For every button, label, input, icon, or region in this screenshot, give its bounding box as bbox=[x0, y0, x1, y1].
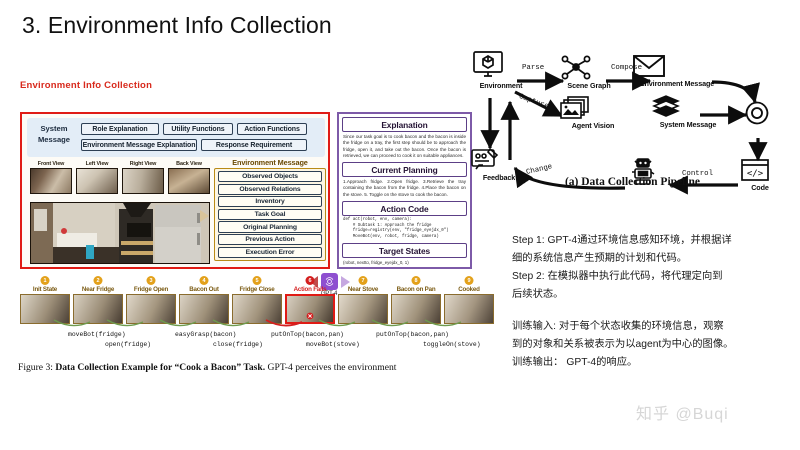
frame-1-thumbnail bbox=[20, 294, 70, 324]
env-item-observed-relations[interactable]: Observed Relations bbox=[218, 184, 322, 195]
environment-message-group: Environment Message Observed Objects Obs… bbox=[214, 158, 326, 265]
node-agent-vision: Agent Vision bbox=[560, 96, 626, 130]
frame-2-thumbnail bbox=[73, 294, 123, 324]
main-scene-render bbox=[30, 202, 210, 264]
environment-message-title: Environment Message bbox=[214, 158, 326, 167]
frame-8[interactable]: 8 Bacon on Pan bbox=[391, 286, 441, 324]
frame-1-number: 1 bbox=[41, 276, 50, 285]
slide-canvas: 3. Environment Info Collection Environme… bbox=[0, 0, 800, 450]
note-step1-line1: Step 1: GPT-4通过环境信息感知环境，并根据详 bbox=[512, 232, 794, 250]
view-back: Back View bbox=[168, 161, 210, 194]
edge-label-compose: Compose bbox=[611, 64, 642, 72]
frame-9-caption: Cooked bbox=[444, 286, 494, 293]
edge-label-parse: Parse bbox=[522, 64, 544, 72]
frame-8-caption: Bacon on Pan bbox=[391, 286, 441, 293]
system-message-band: System Message Role Explanation Utility … bbox=[27, 118, 325, 157]
frame-7-number: 7 bbox=[359, 276, 368, 285]
environment-info-collection-box: System Message Role Explanation Utility … bbox=[20, 112, 330, 269]
action-code-header: Action Code bbox=[342, 201, 467, 216]
gpt-response-panel: Explanation Since our task goal is to co… bbox=[337, 112, 472, 269]
current-planning-text: 1.Approach fridge. 2.Open fridge. 3.Retr… bbox=[342, 179, 467, 198]
env-item-observed-objects[interactable]: Observed Objects bbox=[218, 171, 322, 182]
environment-info-collection-label: Environment Info Collection bbox=[20, 80, 152, 91]
frame-1-caption: Init State bbox=[20, 286, 70, 293]
caption-rest: GPT-4 perceives the environment bbox=[265, 362, 396, 373]
gpt-logo-icon bbox=[742, 98, 776, 128]
system-message-title: System Message bbox=[30, 124, 78, 145]
environment-message-box: Observed Objects Observed Relations Inve… bbox=[214, 168, 326, 261]
note-step1-line2: 细的系统信息产生预期的计划和代码。 bbox=[512, 250, 794, 268]
note-spacer bbox=[512, 304, 794, 318]
frame-2[interactable]: 2 Near Fridge bbox=[73, 286, 123, 324]
frame-8-thumbnail bbox=[391, 294, 441, 324]
feedback-icon bbox=[470, 148, 528, 172]
chip-response-requirement[interactable]: Response Requirement bbox=[201, 139, 307, 151]
frame-6-number: 6 bbox=[306, 276, 315, 285]
frame-4-number: 4 bbox=[200, 276, 209, 285]
node-system-message-label: System Message bbox=[650, 120, 726, 129]
books-stack-icon bbox=[650, 95, 726, 119]
envelope-icon bbox=[632, 54, 722, 78]
env-item-execution-error[interactable]: Execution Error bbox=[218, 247, 322, 258]
view-front-thumbnail bbox=[30, 168, 72, 194]
figure-data-collection-example: Environment Info Collection System Messa… bbox=[14, 80, 500, 380]
view-front: Front View bbox=[30, 161, 72, 194]
action-label-easygrasp-bacon: easyGrasp(bacon) bbox=[175, 331, 236, 338]
view-left: Left View bbox=[76, 161, 118, 194]
action-label-close-fridge: close(fridge) bbox=[213, 341, 263, 348]
explanation-text: Since our task goal is to cook bacon and… bbox=[342, 134, 467, 159]
frame-5-number: 5 bbox=[253, 276, 262, 285]
chip-env-msg-explanation[interactable]: Environment Message Explanation bbox=[81, 139, 197, 151]
node-environment-message: Environment Message bbox=[632, 54, 722, 88]
caption-bold: Data Collection Example for “Cook a Baco… bbox=[55, 362, 265, 373]
target-states-header: Target States bbox=[342, 243, 467, 258]
watermark: 知乎 @Buqi bbox=[636, 400, 729, 424]
action-label-putontop-2: putOnTop(bacon,pan) bbox=[376, 331, 449, 338]
frame-2-number: 2 bbox=[94, 276, 103, 285]
node-gpt bbox=[742, 98, 776, 129]
frame-2-caption: Near Fridge bbox=[73, 286, 123, 293]
figure-caption: Figure 3: Data Collection Example for “C… bbox=[18, 362, 498, 374]
frame-8-number: 8 bbox=[412, 276, 421, 285]
frame-1[interactable]: 1 Init State bbox=[20, 286, 70, 324]
frame-3-thumbnail bbox=[126, 294, 176, 324]
frame-9[interactable]: 9 Cooked bbox=[444, 286, 494, 324]
notes-block: Step 1: GPT-4通过环境信息感知环境，并根据详 细的系统信息产生预期的… bbox=[512, 232, 794, 372]
chip-role-explanation[interactable]: Role Explanation bbox=[81, 123, 159, 135]
page-title: 3. Environment Info Collection bbox=[22, 12, 332, 39]
pipeline-caption: (a) Data Collection Pipeline bbox=[470, 176, 795, 188]
graph-nodes-icon bbox=[560, 54, 618, 80]
frame-3[interactable]: 3 Fridge Open bbox=[126, 286, 176, 324]
frame-4-thumbnail bbox=[179, 294, 229, 324]
note-step2-line1: Step 2: 在模拟器中执行此代码，将代理定向到 bbox=[512, 268, 794, 286]
node-agent-vision-label: Agent Vision bbox=[560, 121, 626, 130]
note-step2-line2: 后续状态。 bbox=[512, 286, 794, 304]
note-train-input-line2: 到的对象和关系被表示为以agent为中心的图像。 bbox=[512, 336, 794, 354]
node-system-message: System Message bbox=[650, 95, 726, 129]
current-planning-header: Current Planning bbox=[342, 162, 467, 177]
camera-views-row: Front View Left View Right View Back Vie… bbox=[30, 161, 210, 199]
env-item-previous-action[interactable]: Previous Action bbox=[218, 234, 322, 245]
action-label-movebot-fridge: moveBot(fridge) bbox=[68, 331, 126, 338]
action-code-text: def act(robot, env, camera): # Subtask 1… bbox=[342, 218, 467, 240]
note-train-output: 训练输出： GPT-4的响应。 bbox=[512, 354, 794, 372]
action-label-putontop-1: putOnTop(bacon,pan) bbox=[271, 331, 344, 338]
rollout-filmstrip: 1 Init State 2 Near Fridge 3 Fridge Open… bbox=[20, 276, 496, 328]
node-scene-graph: Scene Graph bbox=[560, 54, 618, 90]
frame-4[interactable]: 4 Bacon Out bbox=[179, 286, 229, 324]
frame-6-caption: Action Fails bbox=[285, 286, 335, 293]
frame-3-number: 3 bbox=[147, 276, 156, 285]
images-stack-icon bbox=[560, 96, 626, 120]
action-label-open-fridge: open(fridge) bbox=[105, 341, 151, 348]
frame-7-thumbnail bbox=[338, 294, 388, 324]
node-environment-message-label: Environment Message bbox=[632, 79, 722, 88]
action-label-movebot-stove: moveBot(stove) bbox=[306, 341, 360, 348]
frame-4-caption: Bacon Out bbox=[179, 286, 229, 293]
view-right-thumbnail bbox=[122, 168, 164, 194]
view-left-thumbnail bbox=[76, 168, 118, 194]
frame-5-thumbnail bbox=[232, 294, 282, 324]
frame-3-caption: Fridge Open bbox=[126, 286, 176, 293]
env-item-inventory[interactable]: Inventory bbox=[218, 196, 322, 207]
frame-9-number: 9 bbox=[465, 276, 474, 285]
note-train-input-line1: 训练输入: 对于每个状态收集的环境信息，观察 bbox=[512, 318, 794, 336]
frame-5[interactable]: 5 Fridge Close bbox=[232, 286, 282, 324]
action-label-toggleon-stove: toggleOn(stove) bbox=[423, 341, 481, 348]
view-right: Right View bbox=[122, 161, 164, 194]
frame-6-thumbnail bbox=[285, 294, 335, 324]
env-item-task-goal[interactable]: Task Goal bbox=[218, 209, 322, 220]
node-environment-label: Environment bbox=[472, 81, 530, 90]
frame-9-thumbnail bbox=[444, 294, 494, 324]
target-states-text: (robot, nextto, fridge_eyejdx_0, 1) bbox=[342, 260, 467, 265]
view-back-thumbnail bbox=[168, 168, 210, 194]
node-scene-graph-label: Scene Graph bbox=[560, 81, 618, 90]
caption-prefix: Figure 3: bbox=[18, 362, 55, 373]
chip-utility-functions[interactable]: Utility Functions bbox=[163, 123, 233, 135]
env-item-original-planning[interactable]: Original Planning bbox=[218, 221, 322, 232]
arrow-scene-to-message-icon bbox=[200, 210, 209, 222]
frame-5-caption: Fridge Close bbox=[232, 286, 282, 293]
frame-7-caption: Near Stove bbox=[338, 286, 388, 293]
explanation-header: Explanation bbox=[342, 117, 467, 132]
frame-6-action-fails[interactable]: 6 Action Fails bbox=[285, 286, 335, 324]
chip-action-functions[interactable]: Action Functions bbox=[237, 123, 307, 135]
frame-7[interactable]: 7 Near Stove bbox=[338, 286, 388, 324]
